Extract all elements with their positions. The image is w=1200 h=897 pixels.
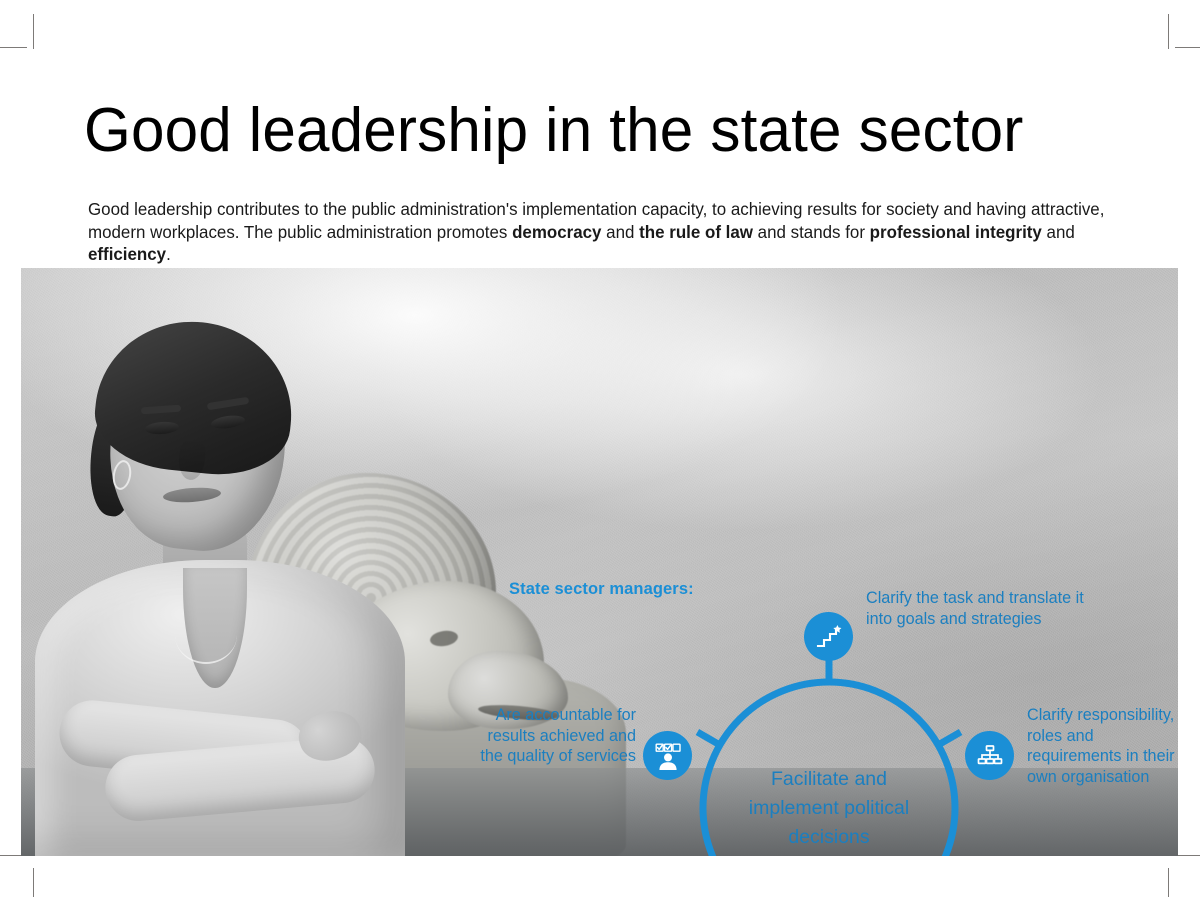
crop-mark-top-right-horizontal xyxy=(1175,47,1200,48)
hero-photo: State sector managers: xyxy=(21,268,1178,856)
node-label-are-accountable: Are accountable for results achieved and… xyxy=(461,705,636,767)
intro-emphasis: professional integrity xyxy=(870,222,1042,242)
page-title: Good leadership in the state sector xyxy=(84,95,1132,167)
intro-emphasis: efficiency xyxy=(88,244,166,264)
leadership-diagram: State sector managers: xyxy=(21,268,1178,856)
node-icon-clarify-responsibility[interactable] xyxy=(965,731,1014,780)
crop-mark-bottom-left-vertical xyxy=(33,868,34,897)
intro-emphasis: democracy xyxy=(512,222,601,242)
stairs-star-icon xyxy=(814,622,844,652)
poster-page: Good leadership in the state sector Good… xyxy=(0,0,1200,897)
node-label-clarify-responsibility: Clarify responsibility, roles and requir… xyxy=(1027,705,1178,787)
intro-text: and stands for xyxy=(753,222,870,242)
crop-mark-bottom-right-vertical xyxy=(1168,868,1169,897)
intro-text: . xyxy=(166,244,171,264)
intro-text: and xyxy=(601,222,639,242)
node-icon-are-accountable[interactable] xyxy=(643,731,692,780)
headline-block: Good leadership in the state sector xyxy=(84,95,1164,167)
crop-mark-top-left-horizontal xyxy=(0,47,27,48)
intro-emphasis: the rule of law xyxy=(639,222,753,242)
diagram-heading: State sector managers: xyxy=(509,580,694,599)
intro-paragraph: Good leadership contributes to the publi… xyxy=(88,198,1137,266)
person-checklist-icon xyxy=(653,741,683,771)
crop-mark-top-left-vertical xyxy=(33,14,34,49)
crop-mark-top-right-vertical xyxy=(1168,14,1169,49)
intro-text: and xyxy=(1042,222,1075,242)
core-label: Facilitate and implement political decis… xyxy=(703,682,955,856)
org-chart-icon xyxy=(976,742,1004,770)
node-icon-clarify-task[interactable] xyxy=(804,612,853,661)
core-circle: Facilitate and implement political decis… xyxy=(703,682,955,856)
node-label-clarify-task: Clarify the task and translate it into g… xyxy=(866,588,1101,629)
crop-mark-bottom-right-horizontal xyxy=(1175,855,1200,856)
